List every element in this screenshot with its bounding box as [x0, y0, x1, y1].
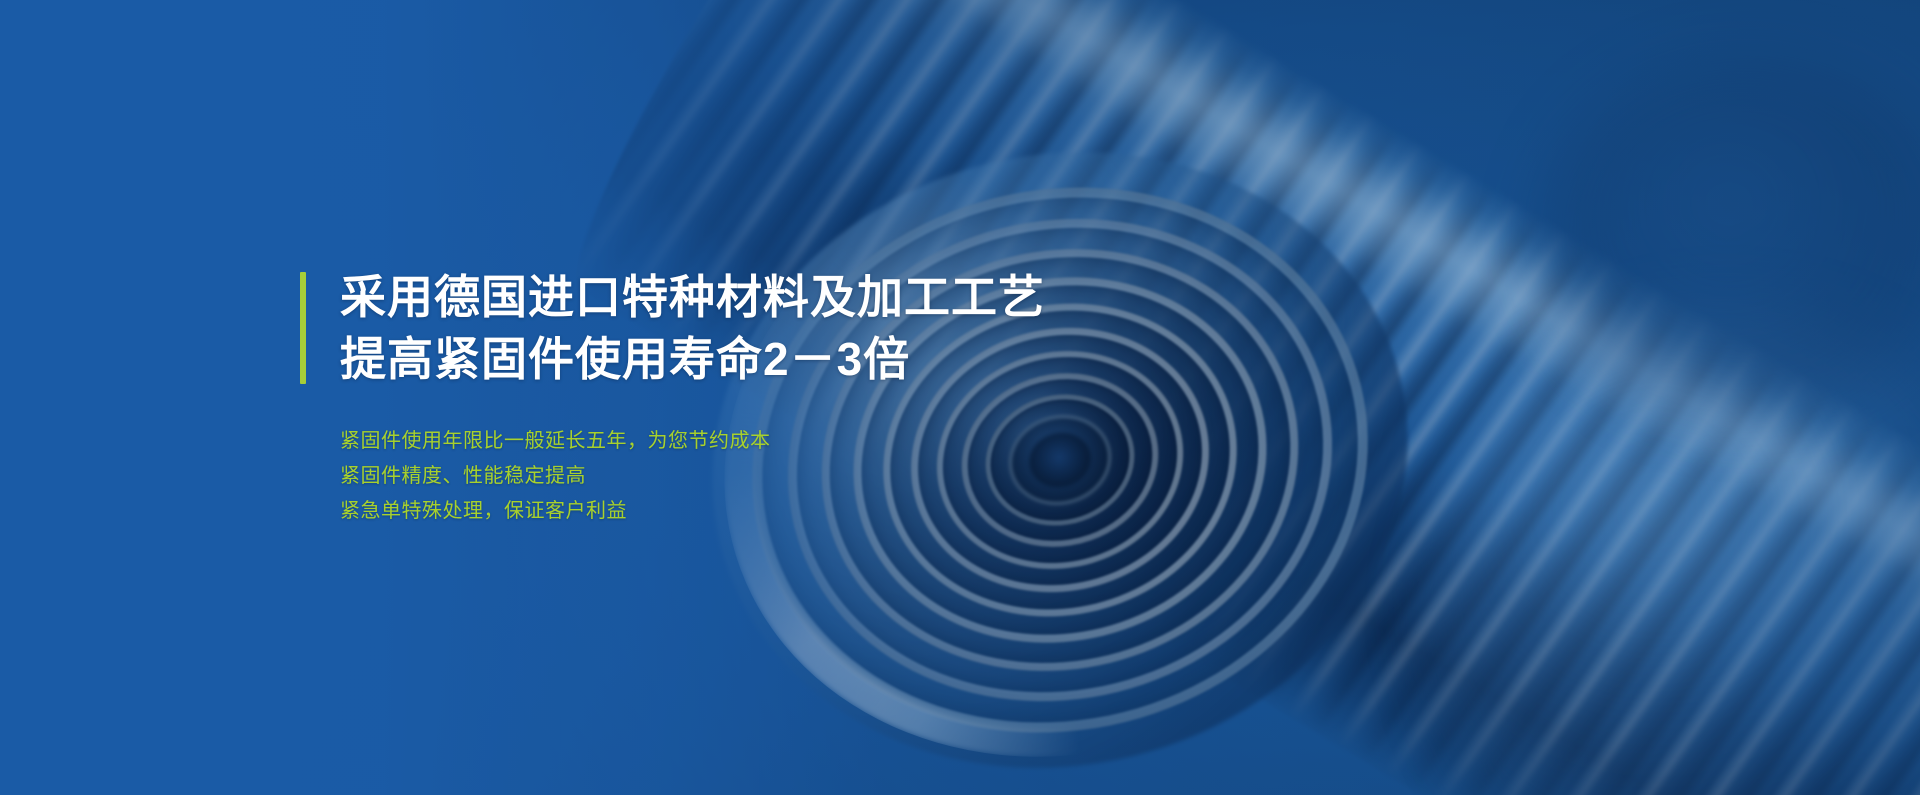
headline-line-2: 提高紧固件使用寿命2－3倍: [340, 328, 1100, 390]
hero-banner: 采用德国进口特种材料及加工工艺 提高紧固件使用寿命2－3倍 紧固件使用年限比一般…: [0, 0, 1920, 795]
headline-line-1: 采用德国进口特种材料及加工工艺: [340, 266, 1100, 328]
headline-block: 采用德国进口特种材料及加工工艺 提高紧固件使用寿命2－3倍: [300, 266, 1100, 390]
banner-content: 采用德国进口特种材料及加工工艺 提高紧固件使用寿命2－3倍 紧固件使用年限比一般…: [300, 0, 1100, 795]
subtitle-line-3: 紧急单特殊处理，保证客户利益: [340, 494, 1100, 529]
subtitle-block: 紧固件使用年限比一般延长五年，为您节约成本 紧固件精度、性能稳定提高 紧急单特殊…: [300, 424, 1100, 529]
subtitle-line-2: 紧固件精度、性能稳定提高: [340, 459, 1100, 494]
green-accent-bar: [300, 272, 306, 384]
subtitle-line-1: 紧固件使用年限比一般延长五年，为您节约成本: [340, 424, 1100, 459]
